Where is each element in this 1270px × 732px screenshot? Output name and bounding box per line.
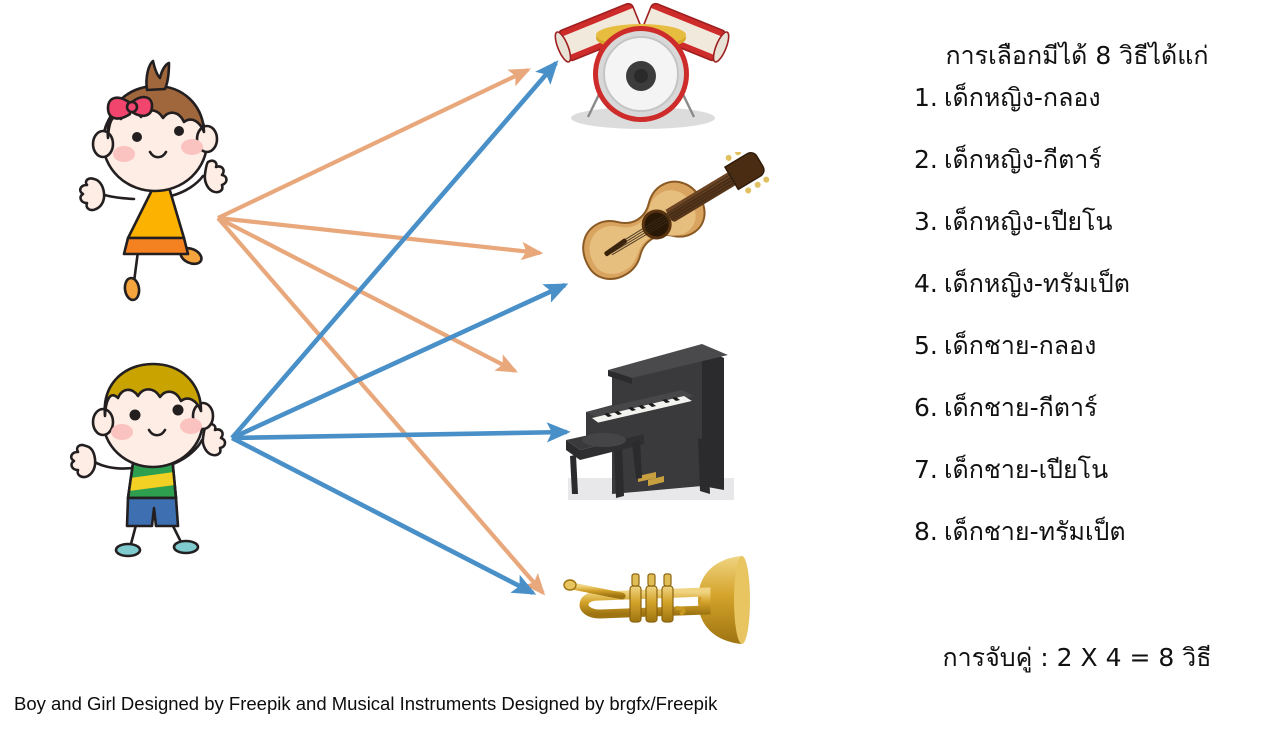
list-item-number: 4. [892,271,944,296]
list-item-text: เด็กหญิง-กลอง [944,85,1262,110]
list-item-number: 8. [892,519,944,544]
arrow-girl-to-piano [218,218,515,371]
upright-piano-illustration [552,328,742,514]
list-item-text: เด็กหญิง-ทรัมเป็ต [944,271,1262,296]
list-item-number: 5. [892,333,944,358]
list-item-text: เด็กหญิง-เปียโน [944,209,1262,234]
trumpet-illustration [558,552,754,648]
list-item: 3. เด็กหญิง-เปียโน [892,209,1262,271]
acoustic-guitar-illustration [552,152,784,288]
drum-set-illustration [548,2,734,130]
list-item: 6. เด็กชาย-กีตาร์ [892,395,1262,457]
boy-illustration [48,358,243,583]
panel-heading: การเลือกมีได้ 8 วิธีได้แก่ [892,42,1262,71]
list-item: 5. เด็กชาย-กลอง [892,333,1262,395]
list-item-text: เด็กชาย-กีตาร์ [944,395,1262,420]
list-item-text: เด็กหญิง-กีตาร์ [944,147,1262,172]
list-item-text: เด็กชาย-กลอง [944,333,1262,358]
list-item: 1. เด็กหญิง-กลอง [892,85,1262,147]
list-item-number: 7. [892,457,944,482]
attribution-caption: Boy and Girl Designed by Freepik and Mus… [14,693,717,715]
slide-canvas: การเลือกมีได้ 8 วิธีได้แก่ 1. เด็กหญิง-ก… [0,0,1270,732]
arrow-girl-to-trumpet [218,218,543,593]
pair-list: 1. เด็กหญิง-กลอง 2. เด็กหญิง-กีตาร์ 3. เ… [892,85,1262,581]
arrow-boy-to-trumpet [232,438,533,593]
arrow-boy-to-guitar [232,285,565,438]
arrow-girl-to-drums [218,70,528,218]
arrow-boy-to-piano [232,432,567,438]
arrow-girl-to-guitar [218,218,540,253]
list-item: 8. เด็กชาย-ทรัมเป็ต [892,519,1262,581]
list-item-number: 6. [892,395,944,420]
girl-illustration [58,46,243,304]
list-item-text: เด็กชาย-เปียโน [944,457,1262,482]
list-item-text: เด็กชาย-ทรัมเป็ต [944,519,1262,544]
explanation-panel: การเลือกมีได้ 8 วิธีได้แก่ 1. เด็กหญิง-ก… [892,42,1262,682]
list-item-number: 3. [892,209,944,234]
list-item-number: 2. [892,147,944,172]
list-item: 2. เด็กหญิง-กีตาร์ [892,147,1262,209]
list-item-number: 1. [892,85,944,110]
list-item: 7. เด็กชาย-เปียโน [892,457,1262,519]
pair-formula: การจับคู่ : 2 X 4 = 8 วิธี [892,638,1262,678]
list-item: 4. เด็กหญิง-ทรัมเป็ต [892,271,1262,333]
